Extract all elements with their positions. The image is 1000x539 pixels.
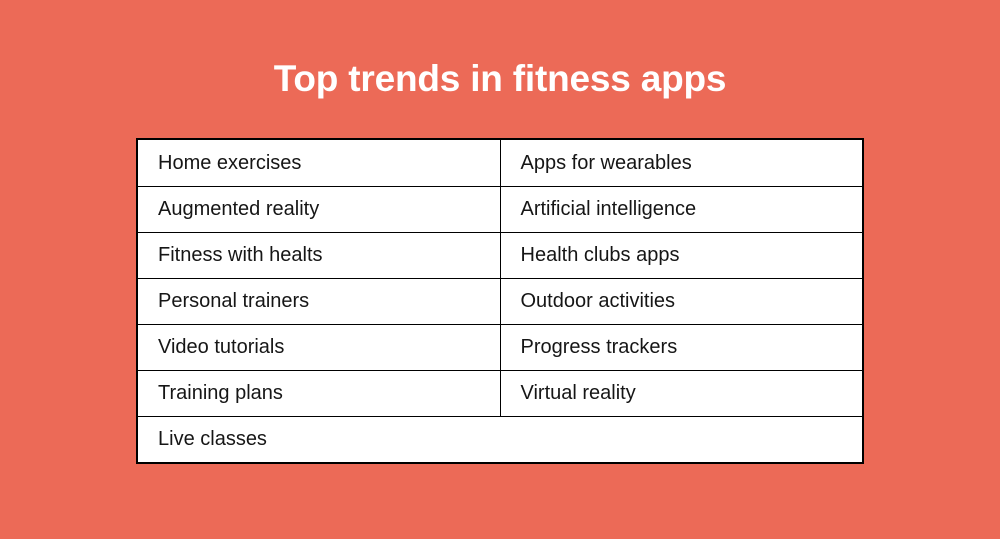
table-row: Home exercises Apps for wearables bbox=[138, 140, 862, 186]
table-row: Fitness with healts Health clubs apps bbox=[138, 232, 862, 278]
table-cell-right: Virtual reality bbox=[500, 370, 862, 416]
table-cell-right: Outdoor activities bbox=[500, 278, 862, 324]
table-cell-right: Progress trackers bbox=[500, 324, 862, 370]
table-row-full-width: Live classes bbox=[138, 416, 862, 462]
table-cell-right: Apps for wearables bbox=[500, 140, 862, 186]
table-cell-left: Augmented reality bbox=[138, 186, 500, 232]
table-row: Personal trainers Outdoor activities bbox=[138, 278, 862, 324]
trends-table-container: Home exercises Apps for wearables Augmen… bbox=[136, 138, 864, 464]
table-row: Augmented reality Artificial intelligenc… bbox=[138, 186, 862, 232]
page-title: Top trends in fitness apps bbox=[0, 56, 1000, 102]
trends-table-body: Home exercises Apps for wearables Augmen… bbox=[138, 140, 862, 462]
slide-canvas: Top trends in fitness apps Home exercise… bbox=[0, 0, 1000, 539]
table-cell-left: Training plans bbox=[138, 370, 500, 416]
trends-table: Home exercises Apps for wearables Augmen… bbox=[138, 140, 862, 462]
table-cell-left: Personal trainers bbox=[138, 278, 500, 324]
table-cell-right: Artificial intelligence bbox=[500, 186, 862, 232]
table-cell-left: Fitness with healts bbox=[138, 232, 500, 278]
table-row: Video tutorials Progress trackers bbox=[138, 324, 862, 370]
table-cell-right: Health clubs apps bbox=[500, 232, 862, 278]
table-cell-left: Home exercises bbox=[138, 140, 500, 186]
table-cell-left: Video tutorials bbox=[138, 324, 500, 370]
table-row: Training plans Virtual reality bbox=[138, 370, 862, 416]
table-cell-full-width: Live classes bbox=[138, 416, 862, 462]
